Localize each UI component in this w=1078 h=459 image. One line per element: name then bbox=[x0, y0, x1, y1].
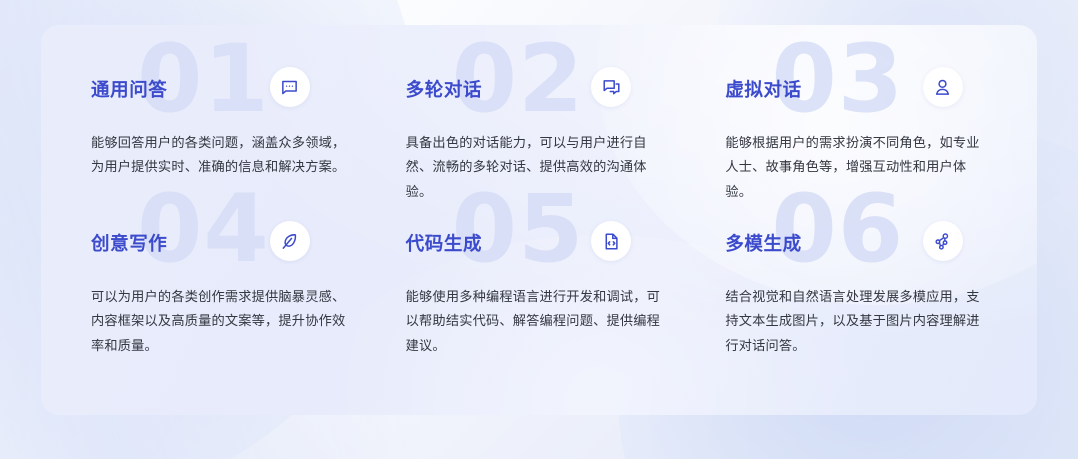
feature-card[interactable]: 05 代码生成 能够使用多种编程语言进行开发和调试，可以帮助结实代码、解答编程问… bbox=[384, 227, 702, 375]
chat-bubble-icon bbox=[270, 67, 310, 107]
feature-description: 能够使用多种编程语言进行开发和调试，可以帮助结实代码、解答编程问题、提供编程建议… bbox=[406, 285, 674, 358]
feather-pen-icon bbox=[270, 221, 310, 261]
feature-title: 通用问答 bbox=[91, 73, 356, 101]
feature-card[interactable]: 06 多模生成 结合视觉和自然语言处理发展多模应用，支持文本生成图片，以及基于图… bbox=[701, 227, 1019, 375]
features-panel: 01 通用问答 能够回答用户的各类问题，涵盖众多领域，为用户提供实时、准确的信息… bbox=[41, 25, 1037, 415]
feature-card[interactable]: 01 通用问答 能够回答用户的各类问题，涵盖众多领域，为用户提供实时、准确的信息… bbox=[66, 73, 384, 221]
feature-title: 创意写作 bbox=[91, 227, 356, 255]
feature-description: 具备出色的对话能力，可以与用户进行自然、流畅的多轮对话、提供高效的沟通体验。 bbox=[406, 131, 674, 204]
user-avatar-icon bbox=[923, 67, 963, 107]
feature-card-grid: 01 通用问答 能够回答用户的各类问题，涵盖众多领域，为用户提供实时、准确的信息… bbox=[41, 25, 1037, 415]
feature-card-header: 03 虚拟对话 bbox=[725, 73, 991, 125]
node-network-icon bbox=[923, 221, 963, 261]
feature-card[interactable]: 04 创意写作 可以为用户的各类创作需求提供脑暴灵感、内容框架以及高质量的文案等… bbox=[66, 227, 384, 375]
feature-card-header: 04 创意写作 bbox=[91, 227, 356, 279]
page-background: 01 通用问答 能够回答用户的各类问题，涵盖众多领域，为用户提供实时、准确的信息… bbox=[0, 0, 1078, 459]
feature-title: 多轮对话 bbox=[406, 73, 674, 101]
feature-card[interactable]: 03 虚拟对话 能够根据用户的需求扮演不同角色，如专业人士、故事角色等，增强互动… bbox=[701, 73, 1019, 221]
feature-description: 能够回答用户的各类问题，涵盖众多领域，为用户提供实时、准确的信息和解决方案。 bbox=[91, 131, 356, 180]
feature-title: 代码生成 bbox=[406, 227, 674, 255]
feature-card-header: 02 多轮对话 bbox=[406, 73, 674, 125]
feature-card[interactable]: 02 多轮对话 具备出色的对话能力，可以与用户进行自然、流畅的多轮对话、提供高效… bbox=[384, 73, 702, 221]
feature-card-header: 01 通用问答 bbox=[91, 73, 356, 125]
feature-description: 结合视觉和自然语言处理发展多模应用，支持文本生成图片，以及基于图片内容理解进行对… bbox=[725, 285, 991, 358]
feature-description: 能够根据用户的需求扮演不同角色，如专业人士、故事角色等，增强互动性和用户体验。 bbox=[725, 131, 991, 204]
feature-card-header: 06 多模生成 bbox=[725, 227, 991, 279]
feature-card-header: 05 代码生成 bbox=[406, 227, 674, 279]
feature-description: 可以为用户的各类创作需求提供脑暴灵感、内容框架以及高质量的文案等，提升协作效率和… bbox=[91, 285, 356, 358]
